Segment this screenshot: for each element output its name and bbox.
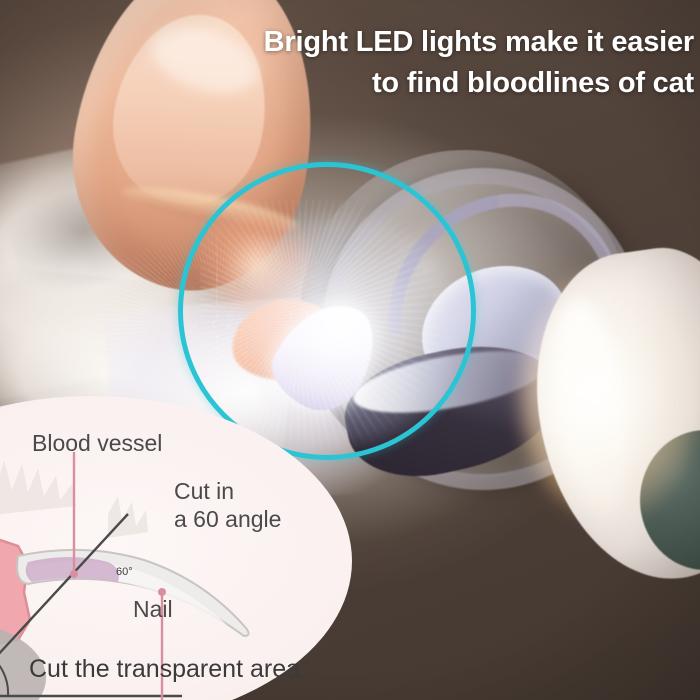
- headline-line-1: Bright LED lights make it easier: [54, 22, 694, 63]
- label-angle-marker: 60°: [116, 566, 133, 578]
- headline: Bright LED lights make it easier to find…: [54, 22, 694, 104]
- inset-caption: Cut the transparent area: [29, 655, 300, 684]
- label-blood-vessel: Blood vessel: [32, 430, 162, 457]
- label-cut-angle: Cut in a 60 angle: [174, 477, 281, 533]
- product-marketing-image: Bright LED lights make it easier to find…: [0, 0, 700, 700]
- label-nail: Nail: [133, 596, 173, 623]
- label-cut-angle-line-1: Cut in: [174, 477, 281, 505]
- label-cut-angle-line-2: a 60 angle: [174, 505, 281, 533]
- headline-line-2: to find bloodlines of cat: [54, 63, 694, 104]
